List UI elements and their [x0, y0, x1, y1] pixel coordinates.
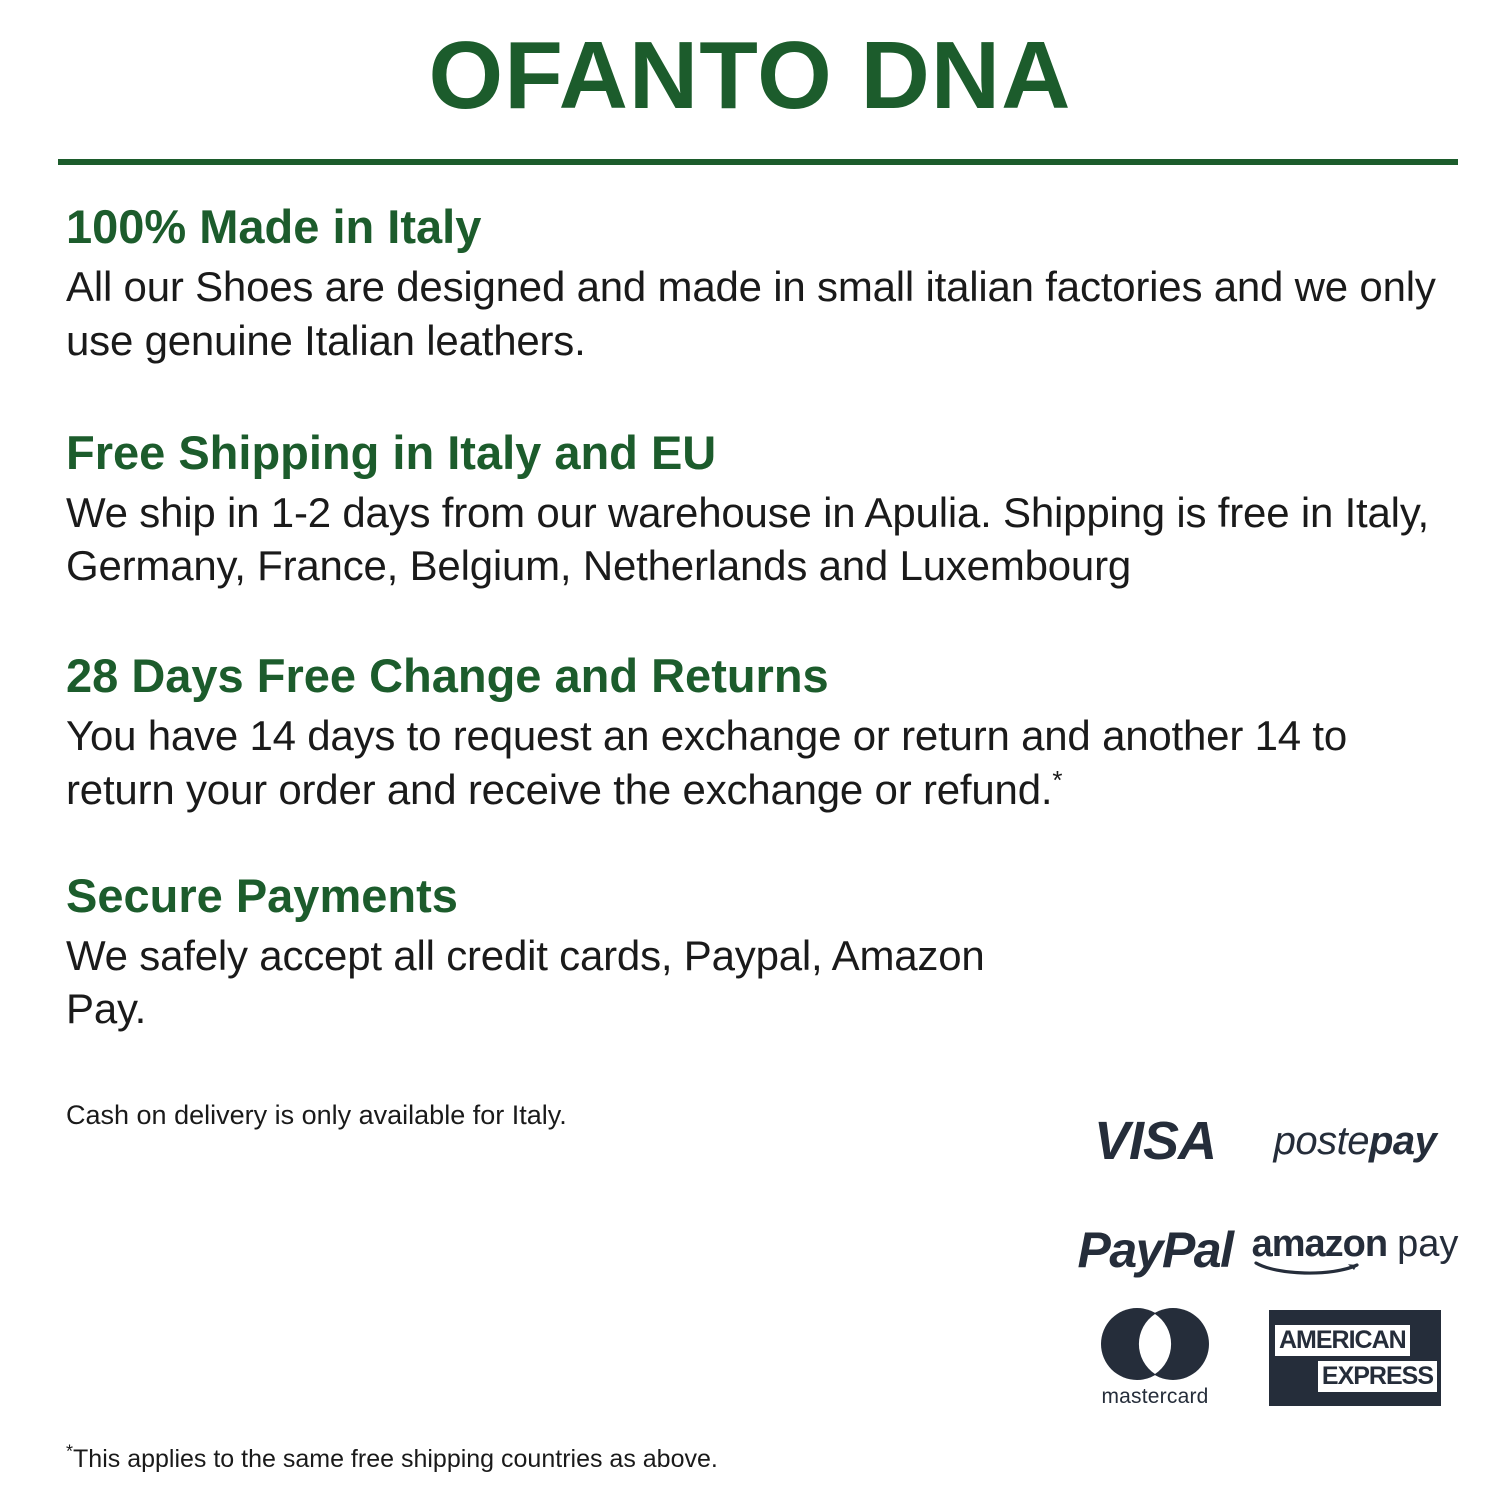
footnote-text: This applies to the same free shipping c… [73, 1445, 718, 1473]
postepay-logo-cell: postepay [1255, 1085, 1455, 1197]
postepay-icon: postepay [1274, 1119, 1437, 1164]
spacer [66, 593, 1446, 649]
content-body: 100% Made in Italy All our Shoes are des… [66, 200, 1446, 1133]
mastercard-label: mastercard [1101, 1385, 1208, 1409]
section-text: All our Shoes are designed and made in s… [66, 260, 1446, 368]
paypal-icon: PayPal [1077, 1221, 1232, 1279]
section-text-main: You have 14 days to request an exchange … [66, 712, 1347, 813]
postepay-part-pay: pay [1369, 1119, 1436, 1163]
mastercard-circles [1096, 1307, 1214, 1381]
spacer [66, 368, 1446, 426]
mastercard-logo-cell: mastercard [1055, 1302, 1255, 1414]
section-made-in-italy: 100% Made in Italy All our Shoes are des… [66, 200, 1446, 368]
american-express-icon: AMERICAN EXPRESS [1269, 1310, 1441, 1406]
amazon-pay-logo-cell: amazon pay [1255, 1197, 1455, 1302]
paypal-logo-cell: PayPal [1055, 1197, 1255, 1302]
section-text: You have 14 days to request an exchange … [66, 709, 1446, 817]
amex-line-2-band: EXPRESS [1318, 1361, 1437, 1392]
visa-logo-cell: VISA [1055, 1085, 1255, 1197]
visa-icon: VISA [1094, 1110, 1216, 1172]
cash-on-delivery-note: Cash on delivery is only available for I… [66, 1098, 1026, 1133]
section-free-shipping: Free Shipping in Italy and EU We ship in… [66, 426, 1446, 594]
secure-payments-text-block: Secure Payments We safely accept all cre… [66, 869, 1026, 1134]
amazon-smile-arrow-icon [1254, 1260, 1366, 1276]
header-divider [58, 159, 1458, 165]
promo-page: OFANTO DNA 100% Made in Italy All our Sh… [0, 0, 1500, 1500]
payment-methods-grid: VISA postepay PayPal amazon pay [1055, 1085, 1455, 1414]
amex-line-1: AMERICAN [1279, 1328, 1406, 1353]
section-text: We ship in 1-2 days from our warehouse i… [66, 486, 1446, 594]
mastercard-circles-svg [1096, 1307, 1214, 1381]
footnote-marker: * [1052, 765, 1062, 795]
amex-line-2: EXPRESS [1322, 1364, 1433, 1389]
spacer [66, 817, 1446, 869]
page-title: OFANTO DNA [0, 0, 1500, 127]
section-returns: 28 Days Free Change and Returns You have… [66, 649, 1446, 817]
mastercard-icon: mastercard [1096, 1307, 1214, 1409]
section-heading: 28 Days Free Change and Returns [66, 649, 1446, 703]
section-heading: Secure Payments [66, 869, 1026, 923]
section-heading: 100% Made in Italy [66, 200, 1446, 254]
section-text: We safely accept all credit cards, Paypa… [66, 929, 1026, 1037]
amazon-pay-word: pay [1397, 1223, 1458, 1265]
page-footnote: *This applies to the same free shipping … [66, 1443, 718, 1476]
amazon-wordmark: amazon [1252, 1223, 1387, 1265]
postepay-part-poste: poste [1274, 1119, 1369, 1163]
amazon-pay-icon: amazon pay [1252, 1223, 1459, 1276]
section-heading: Free Shipping in Italy and EU [66, 426, 1446, 480]
footnote-marker: * [66, 1442, 73, 1462]
amex-line-1-band: AMERICAN [1275, 1325, 1410, 1356]
american-express-logo-cell: AMERICAN EXPRESS [1255, 1302, 1455, 1414]
